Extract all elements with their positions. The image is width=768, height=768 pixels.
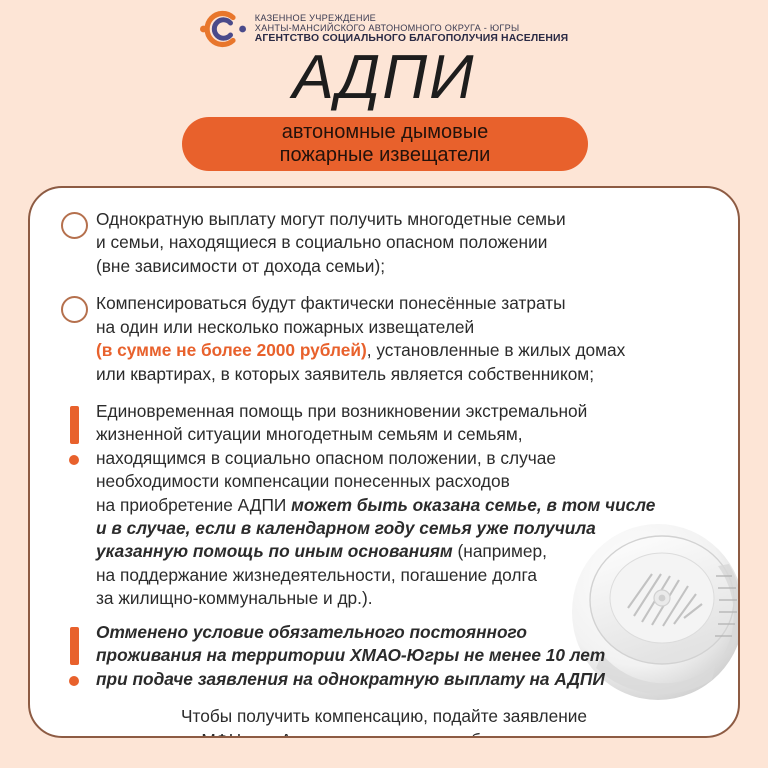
content-card: Однократную выплату могут получить много… (28, 186, 740, 738)
item1-line3: (вне зависимости от дохода семьи); (96, 256, 385, 276)
circle-bullet-icon (61, 296, 88, 323)
logo-line-1: КАЗЕННОЕ УЧРЕЖДЕНИЕ (255, 13, 569, 23)
item2-line3-rest: , установленные в жилых домах (367, 340, 626, 360)
item3-line3: находящимся в социально опасном положени… (96, 448, 556, 468)
item2-amount-highlight: (в сумме не более 2000 рублей) (96, 340, 367, 360)
footer-instructions: Чтобы получить компенсацию, подайте заяв… (94, 705, 674, 738)
exclamation-bar (70, 406, 79, 444)
circle-marker-wrap (52, 208, 96, 239)
item3-line4: необходимости компенсации понесенных рас… (96, 471, 510, 491)
list-item: Компенсироваться будут фактически понесё… (52, 292, 716, 386)
item1-line1: Однократную выплату могут получить много… (96, 209, 566, 229)
logo-line-2: ХАНТЫ-МАНСИЙСКОГО АВТОНОМНОГО ОКРУГА - Ю… (255, 23, 569, 33)
banner-line-1: автономные дымовые (282, 121, 488, 144)
list-item-text: Однократную выплату могут получить много… (96, 208, 716, 278)
list-item-text: Компенсироваться будут фактически понесё… (96, 292, 716, 386)
item1-line2: и семьи, находящиеся в социально опасном… (96, 232, 547, 252)
agency-logo-text: КАЗЕННОЕ УЧРЕЖДЕНИЕ ХАНТЫ-МАНСИЙСКОГО АВ… (255, 13, 569, 45)
page-title: АДПИ (0, 47, 768, 109)
agency-logo-mark (200, 9, 246, 49)
circle-bullet-icon (61, 212, 88, 239)
list-item: Отменено условие обязательного постоянно… (52, 621, 716, 691)
item3-line1: Единовременная помощь при возникновении … (96, 401, 587, 421)
item3-line2: жизненной ситуации многодетным семьям и … (96, 424, 523, 444)
item4-line2: проживания на территории ХМАО-Югры не ме… (96, 645, 605, 665)
exclamation-dot (69, 676, 79, 686)
list-item: Однократную выплату могут получить много… (52, 208, 716, 278)
footer-line-2: в МФЦ или Агентство социального благопол… (187, 730, 580, 738)
circle-marker-wrap (52, 292, 96, 323)
exclamation-dot (69, 455, 79, 465)
item2-line4: или квартирах, в которых заявитель являе… (96, 364, 594, 384)
item3-line5-bold: может быть оказана семье, в том числе (291, 495, 655, 515)
item4-line3: при подаче заявления на однократную выпл… (96, 669, 605, 689)
list-item-text: Отменено условие обязательного постоянно… (96, 621, 716, 691)
exclamation-bar (70, 627, 79, 665)
subtitle-banner: автономные дымовые пожарные извещатели (182, 117, 588, 171)
item3-line8: на поддержание жизнедеятельности, погаше… (96, 565, 537, 585)
exclamation-icon (68, 627, 81, 686)
exclamation-marker-wrap (52, 400, 96, 465)
banner-line-2: пожарные извещатели (280, 144, 491, 167)
item3-line7-rest: (например, (453, 541, 547, 561)
item4-line1: Отменено условие обязательного постоянно… (96, 622, 527, 642)
exclamation-icon (68, 406, 81, 465)
item3-line9: за жилищно-коммунальные и др.). (96, 588, 373, 608)
exclamation-marker-wrap (52, 621, 96, 686)
list-item-text: Единовременная помощь при возникновении … (96, 400, 716, 611)
item2-line2: на один или несколько пожарных извещател… (96, 317, 474, 337)
list-item: Единовременная помощь при возникновении … (52, 400, 716, 611)
item2-line1: Компенсироваться будут фактически понесё… (96, 293, 566, 313)
benefit-list: Однократную выплату могут получить много… (30, 188, 738, 691)
item3-line7-bold: указанную помощь по иным основаниям (96, 541, 453, 561)
item3-line5-plain: на приобретение АДПИ (96, 495, 291, 515)
footer-line-1: Чтобы получить компенсацию, подайте заяв… (181, 706, 587, 726)
item3-line6-bold: и в случае, если в календарном году семь… (96, 518, 596, 538)
